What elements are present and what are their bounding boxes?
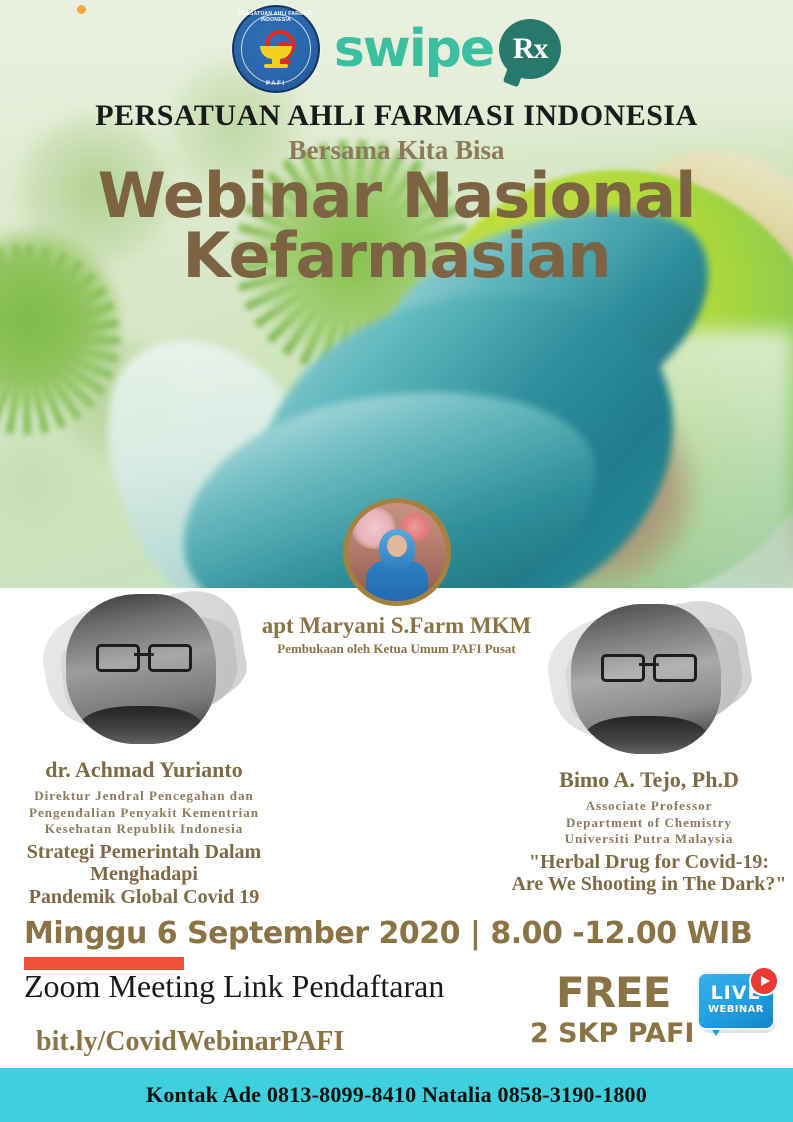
live-webinar-badge: LIVE WEBINAR	[697, 972, 777, 1036]
speaker-portrait	[571, 604, 721, 754]
speaker-collar	[81, 706, 201, 744]
rx-label: Rx	[513, 32, 548, 66]
play-button-icon	[749, 966, 779, 996]
speaker-collar	[586, 716, 706, 754]
page-title: Webinar Nasional Kefarmasian	[0, 165, 793, 287]
title-line-2: Kefarmasian	[0, 225, 793, 287]
price-label: FREE	[556, 968, 670, 1017]
speaker-affiliation-line: Pengendalian Penyakit Kementrian	[0, 805, 294, 822]
bowl-base	[264, 64, 288, 68]
bowl-of-hygieia-icon	[256, 34, 296, 68]
glasses-lens-left	[96, 644, 140, 672]
swipe-dot-icon	[77, 5, 86, 14]
speaker-photo-right	[549, 596, 749, 761]
glasses-lens-left	[601, 654, 645, 682]
logo-strip: PERSATUAN AHLI FARMASI INDONESIA PAFI sw…	[0, 6, 793, 92]
platform-registration-label: Zoom Meeting Link Pendaftaran	[24, 968, 444, 1005]
speaker-portrait	[66, 594, 216, 744]
glasses-icon	[96, 644, 192, 666]
speaker-topic-line: Are We Shooting in The Dark?"	[499, 873, 793, 895]
speaker-affiliation: Associate Professor Department of Chemis…	[499, 798, 793, 848]
host-avatar	[343, 498, 451, 606]
swipe-wordmark: swipe	[334, 26, 493, 73]
pafi-logo-icon: PERSATUAN AHLI FARMASI INDONESIA PAFI	[232, 5, 320, 93]
speaker-card-left: dr. Achmad Yurianto Direktur Jendral Pen…	[0, 586, 294, 908]
speaker-topic: Strategi Pemerintah Dalam Menghadapi Pan…	[0, 841, 294, 908]
speaker-topic-line: Pandemik Global Covid 19	[0, 886, 294, 908]
glasses-lens-right	[148, 644, 192, 672]
event-datetime: Minggu 6 September 2020 | 8.00 -12.00 WI…	[24, 916, 752, 951]
glasses-lens-right	[653, 654, 697, 682]
pafi-logo-bottom-text: PAFI	[234, 81, 318, 87]
speaker-affiliation-line: Kesehatan Republik Indonesia	[0, 821, 294, 838]
webinar-label: WEBINAR	[699, 1004, 773, 1015]
swiperx-logo: swipe Rx	[334, 19, 561, 79]
speaker-affiliation-line: Universiti Putra Malaysia	[499, 831, 793, 848]
speaker-affiliation-line: Direktur Jendral Pencegahan dan	[0, 788, 294, 805]
credits-label: 2 SKP PAFI	[530, 1018, 694, 1049]
speaker-card-right: Bimo A. Tejo, Ph.D Associate Professor D…	[499, 596, 793, 896]
rx-speech-bubble-icon: Rx	[499, 19, 561, 79]
speaker-topic-line: Strategi Pemerintah Dalam Menghadapi	[0, 841, 294, 886]
speaker-affiliation-line: Department of Chemistry	[499, 815, 793, 832]
speaker-name: Bimo A. Tejo, Ph.D	[499, 767, 793, 793]
organization-name: PERSATUAN AHLI FARMASI INDONESIA	[0, 99, 793, 133]
webinar-poster: PERSATUAN AHLI FARMASI INDONESIA PAFI sw…	[0, 0, 793, 1122]
play-triangle	[761, 976, 770, 986]
speaker-topic: "Herbal Drug for Covid-19: Are We Shooti…	[499, 851, 793, 896]
speaker-name: dr. Achmad Yurianto	[0, 757, 294, 783]
speaker-affiliation-line: Associate Professor	[499, 798, 793, 815]
pafi-logo-top-text: PERSATUAN AHLI FARMASI INDONESIA	[234, 11, 318, 23]
speaker-affiliation: Direktur Jendral Pencegahan dan Pengenda…	[0, 788, 294, 838]
contact-footer: Kontak Ade 0813-8099-8410 Natalia 0858-3…	[0, 1068, 793, 1122]
host-face	[387, 535, 407, 557]
speaker-photo-left	[44, 586, 244, 751]
contact-text: Kontak Ade 0813-8099-8410 Natalia 0858-3…	[146, 1082, 647, 1108]
glasses-icon	[601, 654, 697, 676]
registration-link[interactable]: bit.ly/CovidWebinarPAFI	[36, 1026, 344, 1058]
speaker-topic-line: "Herbal Drug for Covid-19:	[499, 851, 793, 873]
